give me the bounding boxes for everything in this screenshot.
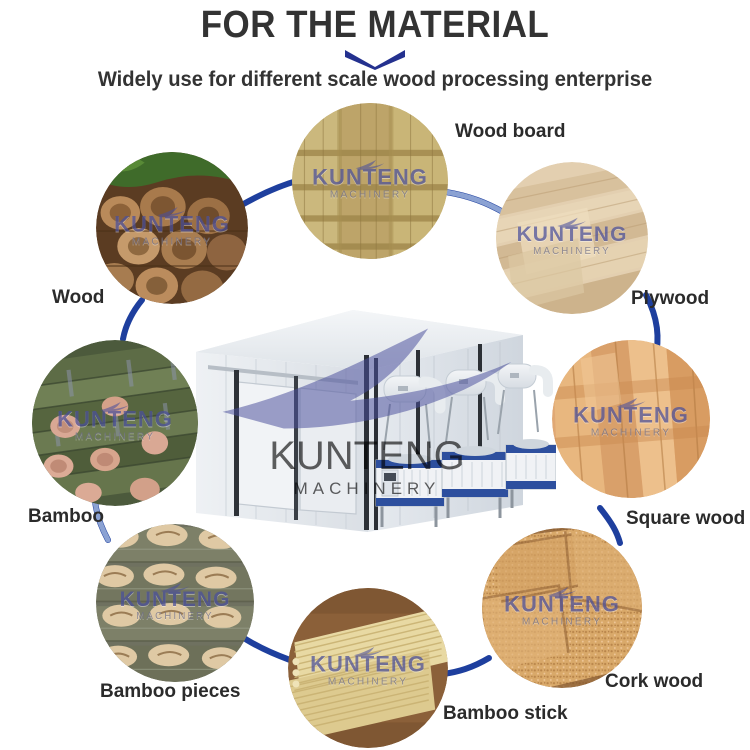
node-bamboo[interactable]: KUNTENG MACHINERY — [32, 340, 198, 506]
label-cork-wood: Cork wood — [605, 671, 703, 693]
node-wood-board[interactable]: KUNTENG MACHINERY — [292, 103, 448, 259]
center-machine-image: KUNTENG MACHINERY — [178, 300, 556, 532]
photo-bamboo — [32, 340, 198, 506]
photo-wood — [96, 152, 248, 304]
photo-bamboo-pieces — [96, 524, 254, 682]
photo-cork-wood — [482, 528, 642, 688]
photo-plywood — [496, 162, 648, 314]
label-bamboo-pieces: Bamboo pieces — [100, 681, 240, 703]
node-wood[interactable]: KUNTENG MACHINERY — [96, 152, 248, 304]
label-square-wood: Square wood — [626, 508, 745, 530]
label-wood: Wood — [52, 287, 104, 309]
node-cork-wood[interactable]: KUNTENG MACHINERY — [482, 528, 642, 688]
label-bamboo: Bamboo — [28, 506, 104, 528]
node-plywood[interactable]: KUNTENG MACHINERY — [496, 162, 648, 314]
node-square-wood[interactable]: KUNTENG MACHINERY — [552, 340, 710, 498]
photo-bamboo-stick — [288, 588, 448, 748]
label-wood-board: Wood board — [455, 121, 565, 143]
node-bamboo-pieces[interactable]: KUNTENG MACHINERY — [96, 524, 254, 682]
photo-wood-board — [292, 103, 448, 259]
infographic-canvas: FOR THE MATERIAL Widely use for differen… — [0, 0, 750, 750]
photo-square-wood — [552, 340, 710, 498]
label-bamboo-stick: Bamboo stick — [443, 703, 568, 725]
wood-drying-kiln-illustration — [178, 300, 556, 532]
label-plywood: Plywood — [631, 288, 709, 310]
node-bamboo-stick[interactable]: KUNTENG MACHINERY — [288, 588, 448, 748]
